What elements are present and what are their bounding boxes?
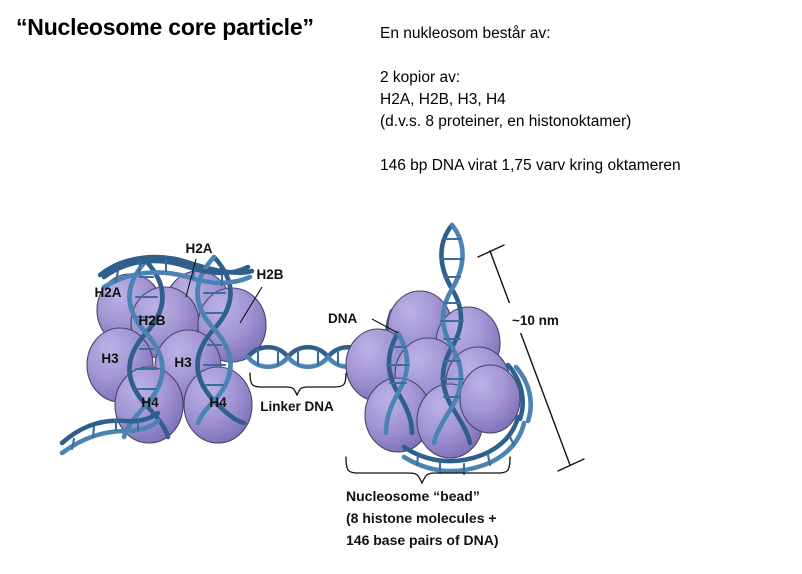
label-h2b-inner: H2B — [138, 313, 165, 328]
label-h3-left: H3 — [101, 351, 119, 366]
caption-line-1: Nucleosome “bead” — [346, 488, 480, 504]
description-spacer-2 — [380, 136, 681, 158]
caption-line-3: 146 base pairs of DNA) — [346, 532, 499, 548]
nucleosome-diagram: H2A H2B H3 H3 H4 H4 H2A H2B — [0, 215, 802, 560]
label-h2b-right: H2B — [256, 267, 283, 282]
description-line-4: (d.v.s. 8 proteiner, en histonoktamer) — [380, 114, 681, 136]
description-text-block: En nukleosom består av: 2 kopior av: H2A… — [380, 26, 681, 180]
left-histone-octamer: H2A H2B H3 H3 H4 H4 H2A H2B — [62, 241, 284, 453]
label-h2a-outer: H2A — [94, 285, 121, 300]
description-spacer-1 — [380, 48, 681, 70]
linker-dna-bracket — [250, 373, 346, 395]
label-h4-left: H4 — [141, 395, 159, 410]
scale-bar-line — [490, 251, 570, 465]
label-h4-right: H4 — [209, 395, 227, 410]
label-linker-dna: Linker DNA — [260, 399, 334, 414]
slide-canvas: “Nucleosome core particle” En nukleosom … — [0, 0, 802, 574]
description-line-2: 2 kopior av: — [380, 70, 681, 92]
label-dna: DNA — [328, 311, 357, 326]
nucleosome-bead-caption: Nucleosome “bead” (8 histone molecules +… — [346, 457, 510, 548]
label-scale-10nm: ~10 nm — [512, 313, 559, 328]
description-line-5: 146 bp DNA virat 1,75 varv kring oktamer… — [380, 158, 681, 180]
label-h3-center: H3 — [174, 355, 192, 370]
caption-line-2: (8 histone molecules + — [346, 510, 497, 526]
histone-sphere — [460, 365, 520, 433]
description-line-1: En nukleosom består av: — [380, 26, 681, 48]
label-h2a-top: H2A — [185, 241, 212, 256]
page-title: “Nucleosome core particle” — [16, 14, 314, 41]
scale-bar-cap-bottom — [558, 459, 584, 471]
description-line-3: H2A, H2B, H3, H4 — [380, 92, 681, 114]
right-nucleosome-bead: DNA — [328, 225, 531, 474]
